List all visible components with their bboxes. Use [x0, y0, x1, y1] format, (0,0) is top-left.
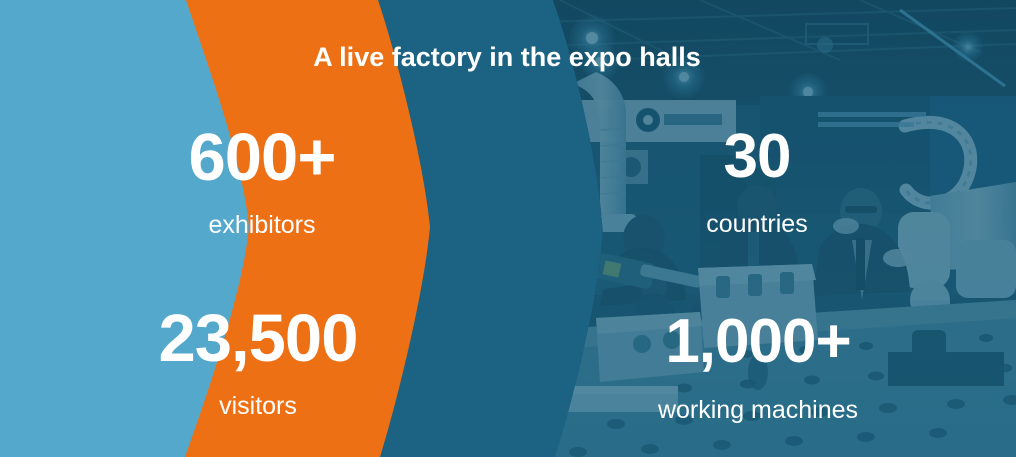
stat-visitors-value: 23,500 — [108, 305, 408, 372]
stat-exhibitors-label: exhibitors — [112, 213, 412, 238]
stat-exhibitors-value: 600+ — [112, 124, 412, 191]
stat-machines: 1,000+ working machines — [608, 311, 908, 423]
stat-countries: 30 countries — [607, 126, 907, 237]
headline-text: A live factory in the expo halls — [313, 42, 701, 73]
stat-visitors: 23,500 visitors — [108, 305, 408, 419]
stat-countries-label: countries — [607, 212, 907, 237]
stats-banner: A live factory in the expo halls 600+ ex… — [0, 0, 1016, 457]
stat-exhibitors: 600+ exhibitors — [112, 124, 412, 238]
stat-countries-value: 30 — [607, 126, 907, 188]
page-title: A live factory in the expo halls — [0, 42, 1016, 73]
stat-visitors-label: visitors — [108, 394, 408, 419]
stat-machines-label: working machines — [608, 398, 908, 423]
stat-machines-value: 1,000+ — [608, 311, 908, 373]
